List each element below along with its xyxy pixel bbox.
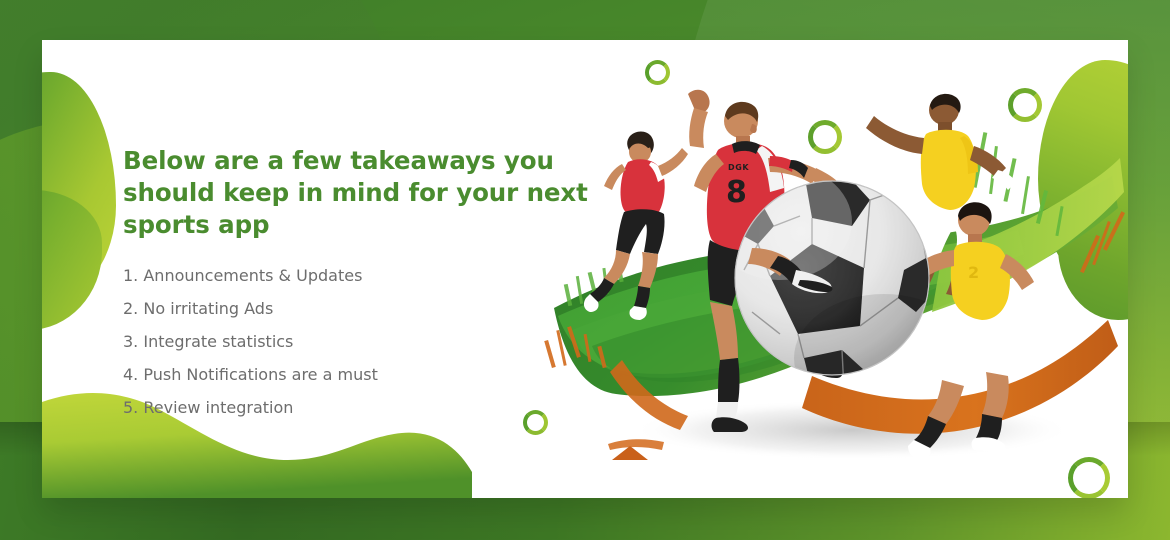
svg-text:2: 2: [968, 263, 979, 282]
svg-text:DGK: DGK: [728, 163, 749, 172]
ring-upper-left-of-ball: [808, 120, 842, 154]
content-card: Below are a few takeaways you should kee…: [42, 40, 1128, 498]
ring-lower-left: [523, 410, 548, 435]
slide-root: Below are a few takeaways you should kee…: [0, 0, 1170, 540]
ring-top-right: [1008, 88, 1042, 122]
ring-bottom-right: [1068, 457, 1110, 498]
svg-text:8: 8: [726, 175, 747, 210]
ring-top-center: [645, 60, 670, 85]
